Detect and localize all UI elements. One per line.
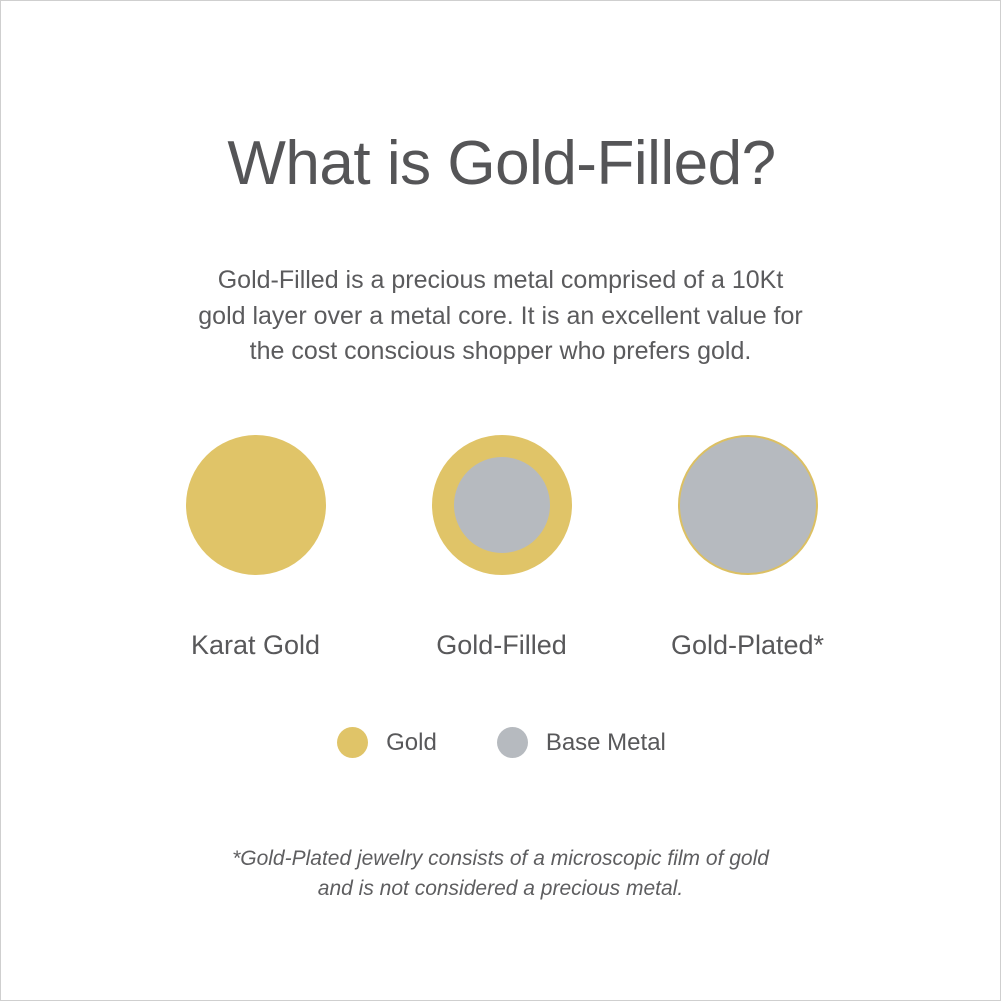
intro-paragraph: Gold-Filled is a precious metal comprise… (151, 263, 851, 370)
legend-entry-base-metal: Base Metal (497, 727, 666, 758)
base-metal-swatch-icon (497, 727, 528, 758)
footnote: *Gold-Plated jewelry consists of a micro… (151, 844, 851, 905)
legend-entry-gold: Gold (337, 727, 437, 758)
intro-line-2: gold layer over a metal core. It is an e… (151, 299, 851, 335)
gold-types-infographic: What is Gold-Filled? Gold-Filled is a pr… (0, 0, 1001, 1001)
karat-gold-label: Karat Gold (191, 632, 320, 659)
intro-line-1: Gold-Filled is a precious metal comprise… (151, 263, 851, 299)
page-title: What is Gold-Filled? (1, 130, 1001, 198)
legend: Gold Base Metal (1, 727, 1001, 758)
gold-swatch-icon (337, 727, 368, 758)
gold-filled-diagram-icon (432, 435, 572, 575)
gold-filled-label: Gold-Filled (436, 632, 567, 659)
intro-line-3: the cost conscious shopper who prefers g… (151, 334, 851, 370)
gold-plated-label: Gold-Plated* (671, 632, 824, 659)
metal-type-karat-gold: Karat Gold (186, 435, 326, 659)
footnote-line-2: and is not considered a precious metal. (151, 874, 851, 904)
footnote-line-1: *Gold-Plated jewelry consists of a micro… (151, 844, 851, 874)
metal-type-gold-filled: Gold-Filled (432, 435, 572, 659)
legend-label-base-metal: Base Metal (546, 731, 666, 755)
metal-comparison-row: Karat Gold Gold-Filled Gold-Plated* (1, 435, 1001, 659)
metal-type-gold-plated: Gold-Plated* (678, 435, 818, 659)
karat-gold-diagram-icon (186, 435, 326, 575)
legend-label-gold: Gold (386, 731, 437, 755)
gold-plated-diagram-icon (678, 435, 818, 575)
